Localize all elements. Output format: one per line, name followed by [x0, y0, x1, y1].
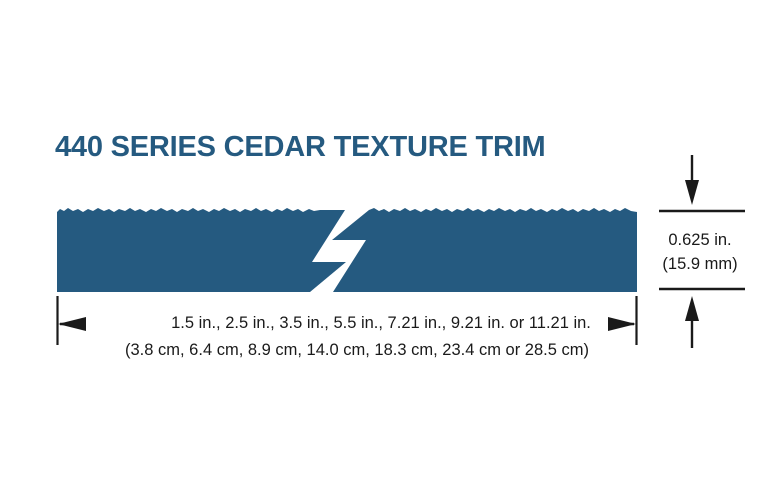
board-left-segment — [57, 208, 346, 292]
width-arrow-left-head — [58, 317, 86, 331]
width-dimension-metric-label: (3.8 cm, 6.4 cm, 8.9 cm, 14.0 cm, 18.3 c… — [125, 339, 589, 362]
width-arrow-right-head — [608, 317, 636, 331]
product-spec-sheet: 440 SERIES CEDAR TEXTURE TRIM — [0, 0, 762, 500]
trim-technical-drawing — [0, 0, 762, 500]
board-right-segment — [332, 208, 637, 292]
thickness-dimension-labels: 0.625 in. (15.9 mm) — [662, 228, 737, 276]
board-left-shape — [57, 208, 346, 292]
thickness-imperial-label: 0.625 in. — [662, 228, 737, 252]
thickness-arrow-top-head — [685, 180, 699, 205]
board-right-shape — [332, 208, 637, 292]
thickness-metric-label: (15.9 mm) — [662, 252, 737, 276]
width-dimension-imperial-label: 1.5 in., 2.5 in., 3.5 in., 5.5 in., 7.21… — [171, 312, 591, 335]
